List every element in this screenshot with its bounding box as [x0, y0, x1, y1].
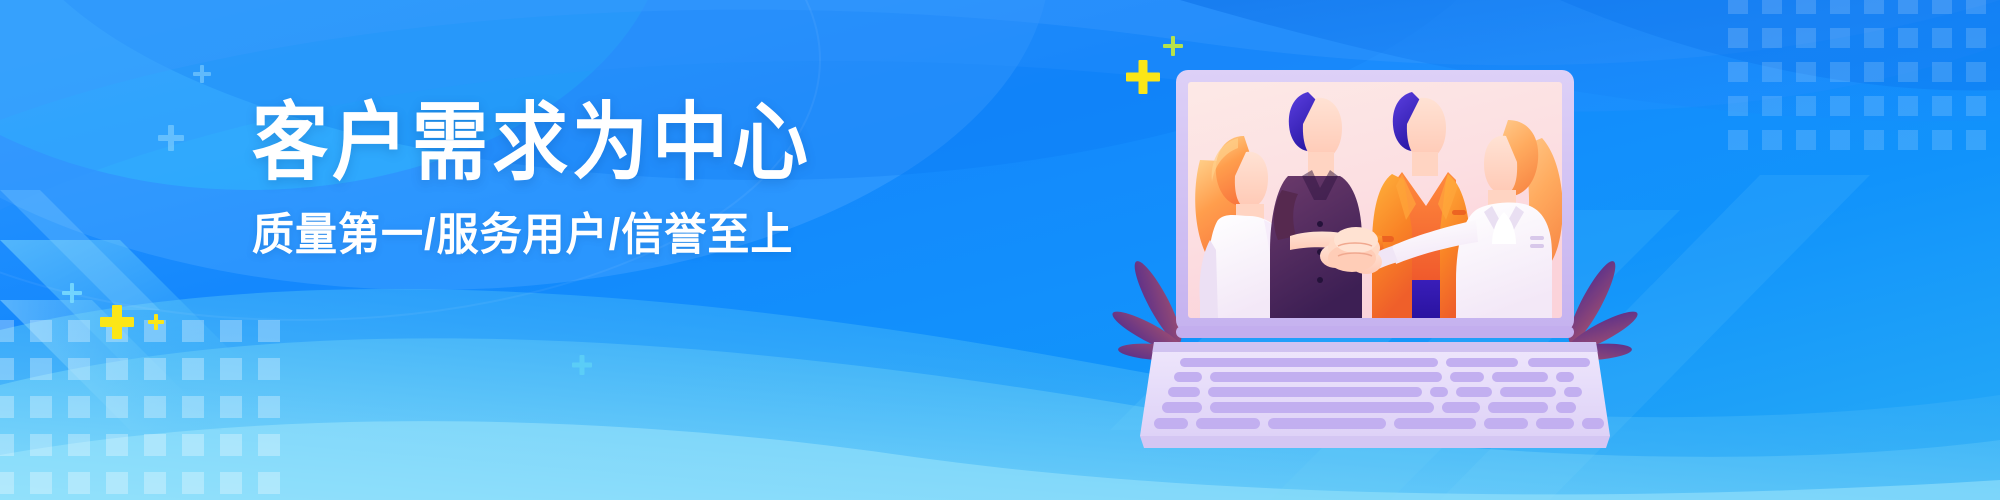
plus-icon-pale-cyan-mid	[572, 355, 592, 375]
text-block: 客户需求为中心 质量第一/服务用户/信誉至上	[252, 96, 972, 258]
laptop-team-handshake-illustration	[1140, 40, 1610, 460]
plus-icon-yellow-bottom	[100, 305, 134, 339]
laptop-front-edge	[1140, 436, 1610, 448]
plus-icon-yellow-small-bottom	[148, 314, 164, 330]
plus-icon-pale-upper	[158, 125, 184, 151]
plus-icon-pale-top	[193, 65, 211, 83]
laptop-hinge	[1176, 326, 1574, 338]
page-subtitle: 质量第一/服务用户/信誉至上	[252, 208, 972, 261]
plus-icon-pale-cyan-bottom	[62, 283, 82, 303]
promo-banner: 客户需求为中心 质量第一/服务用户/信誉至上	[0, 0, 2000, 500]
page-title: 客户需求为中心	[252, 96, 972, 192]
